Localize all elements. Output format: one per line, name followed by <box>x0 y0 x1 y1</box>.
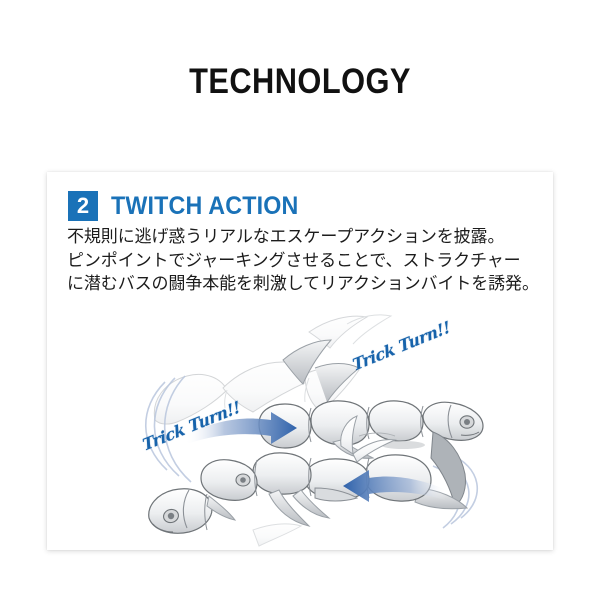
section-number-badge: 2 <box>68 191 98 221</box>
page-title: TECHNOLOGY <box>36 62 564 102</box>
lure-action-illustration: Trick Turn!! Trick Turn!! <box>47 308 553 550</box>
section-heading-label: TWITCH ACTION <box>111 192 299 220</box>
technology-card: 2 TWITCH ACTION 不規則に逃げ惑うリアルなエスケープアクションを披… <box>47 172 553 550</box>
body-line: 不規則に逃げ惑うリアルなエスケープアクションを披露。 <box>67 226 545 250</box>
section-body-copy: 不規則に逃げ惑うリアルなエスケープアクションを披露。 ピンポイントでジャーキング… <box>67 226 545 297</box>
body-line: に潜むバスの闘争本能を刺激してリアクションバイトを誘発。 <box>67 273 545 297</box>
body-line: ピンポイントでジャーキングさせることで、ストラクチャー <box>67 250 545 274</box>
lure-diagram-svg <box>47 308 553 550</box>
ghost-fin-lower <box>253 524 301 546</box>
section-heading: 2 TWITCH ACTION <box>68 190 313 222</box>
